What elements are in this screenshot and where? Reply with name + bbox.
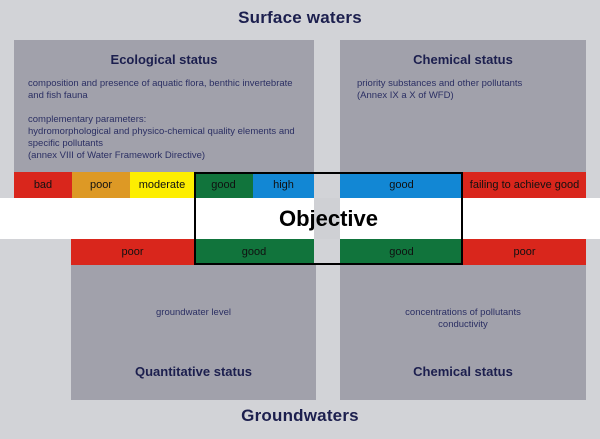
diagram-canvas: Surface waters Ecological status composi…	[0, 0, 600, 439]
status-segment-moderate: moderate	[130, 172, 194, 198]
panel-chemical-status-surface: Chemical status priority substances and …	[340, 40, 586, 175]
panel-body-chemical-status-surface: priority substances and other pollutants…	[357, 78, 577, 102]
panel-body-chemical-status-ground: concentrations of pollutants conductivit…	[340, 307, 586, 331]
objective-label: Objective	[194, 198, 463, 239]
status-segment-good: good	[194, 172, 253, 198]
panel-title-quantitative-status: Quantitative status	[71, 364, 316, 379]
page-title-surface-waters: Surface waters	[0, 8, 600, 28]
panel-title-chemical-status-ground: Chemical status	[340, 364, 586, 379]
status-segment-high: high	[253, 172, 314, 198]
panel-quantitative-status: groundwater level Quantitative status	[71, 265, 316, 400]
page-title-groundwaters: Groundwaters	[0, 406, 600, 426]
ground-bar-gap	[314, 239, 340, 265]
status-segment-bad: bad	[14, 172, 72, 198]
panel-ecological-status: Ecological status composition and presen…	[14, 40, 314, 175]
status-segment-poor: poor	[463, 239, 586, 265]
surface-bar-gap	[314, 172, 340, 198]
status-segment-good: good	[340, 239, 463, 265]
panel-title-chemical-status-surface: Chemical status	[340, 52, 586, 67]
panel-body-quantitative-status: groundwater level	[71, 307, 316, 319]
status-segment-poor: poor	[72, 172, 130, 198]
status-bar-surface-waters: badpoormoderategoodhighgoodfailing to ac…	[14, 172, 586, 198]
panel-body-ecological-status: composition and presence of aquatic flor…	[28, 78, 306, 162]
panel-title-ecological-status: Ecological status	[14, 52, 314, 67]
status-segment-good: good	[194, 239, 314, 265]
panel-chemical-status-ground: concentrations of pollutants conductivit…	[340, 265, 586, 400]
status-segment-good: good	[340, 172, 463, 198]
status-segment-failing-to-achieve-good: failing to achieve good	[463, 172, 586, 198]
status-segment-poor: poor	[71, 239, 194, 265]
